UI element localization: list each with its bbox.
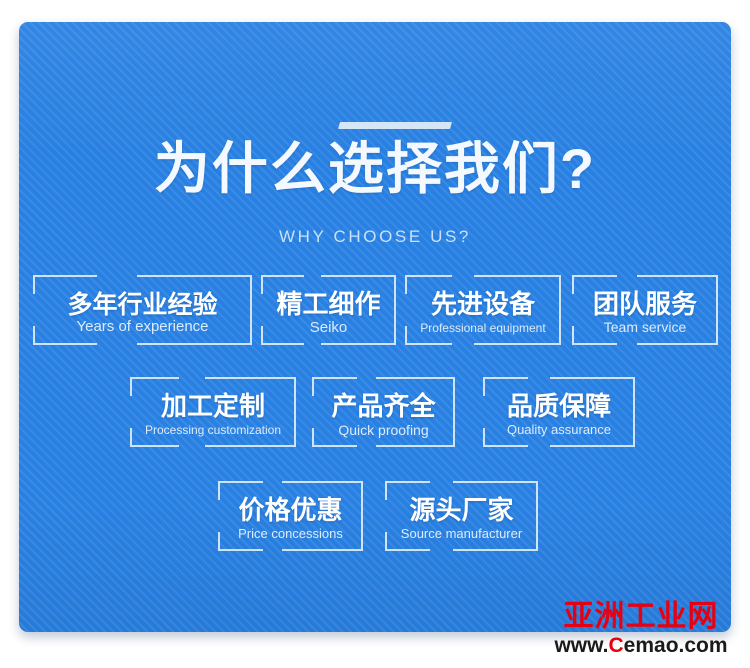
card-title-cn: 品质保障 (483, 386, 635, 423)
feature-card-quick-proofing[interactable]: 产品齐全 Quick proofing (312, 377, 455, 447)
card-title-cn: 先进设备 (405, 284, 561, 321)
feature-card-source-manufacturer[interactable]: 源头厂家 Source manufacturer (385, 481, 538, 551)
bracket-edge-bottom-right (453, 549, 521, 551)
bracket-edge-bottom-right (474, 343, 544, 345)
bracket-edge-bottom-left (402, 549, 430, 551)
bracket-edge-bottom-left (329, 445, 357, 447)
bracket-edge-top-left (278, 275, 304, 277)
bracket-edge-top-left (235, 481, 263, 483)
bracket-edge-bottom-left (589, 343, 617, 345)
page-subtitle: WHY CHOOSE US? (19, 227, 731, 247)
feature-card-quality-assurance[interactable]: 品质保障 Quality assurance (483, 377, 635, 447)
page-title: 为什么选择我们? (19, 140, 731, 199)
card-title-cn: 加工定制 (130, 386, 296, 423)
feature-card-team-service[interactable]: 团队服务 Team service (572, 275, 718, 345)
bracket-edge-bottom-right (376, 445, 438, 447)
watermark-url-highlight: C (609, 634, 624, 657)
card-title-en: Years of experience (33, 318, 252, 335)
card-title-en: Professional equipment (405, 321, 561, 335)
bracket-edge-bottom-left (278, 343, 304, 345)
card-title-en: Team service (572, 319, 718, 335)
title-accent-bar (338, 122, 452, 129)
bracket-edge-bottom-right (282, 549, 346, 551)
bracket-edge-top-left (402, 481, 430, 483)
bracket-edge-bottom-left (50, 343, 97, 345)
bracket-edge-bottom-right (321, 343, 379, 345)
bracket-edge-top-right (474, 275, 544, 277)
bracket-edge-bottom-left (147, 445, 179, 447)
bracket-edge-top-left (147, 377, 179, 379)
feature-card-processing-customization[interactable]: 加工定制 Processing customization (130, 377, 296, 447)
bracket-edge-top-left (500, 377, 528, 379)
bracket-edge-top-left (329, 377, 357, 379)
card-title-en: Processing customization (130, 423, 296, 437)
banner-stage: 为什么选择我们? WHY CHOOSE US? 多年行业经验 Years of … (0, 0, 750, 668)
bracket-edge-bottom-right (137, 343, 235, 345)
bracket-edge-top-right (376, 377, 438, 379)
bracket-edge-top-left (50, 275, 97, 277)
bracket-edge-bottom-right (205, 445, 279, 447)
feature-card-seiko[interactable]: 精工细作 Seiko (261, 275, 396, 345)
card-title-en: Source manufacturer (385, 526, 538, 541)
feature-card-professional-equipment[interactable]: 先进设备 Professional equipment (405, 275, 561, 345)
card-title-en: Price concessions (218, 526, 363, 541)
bracket-edge-bottom-right (637, 343, 701, 345)
card-title-cn: 价格优惠 (218, 490, 363, 527)
watermark-site-name-cn: 亚洲工业网 (538, 600, 744, 634)
bracket-edge-top-right (321, 275, 379, 277)
bracket-edge-top-right (637, 275, 701, 277)
card-title-cn: 源头厂家 (385, 490, 538, 527)
watermark-url-prefix: www. (554, 634, 608, 657)
card-title-cn: 多年行业经验 (33, 285, 252, 321)
card-title-cn: 产品齐全 (312, 386, 455, 423)
card-title-en: Seiko (261, 319, 396, 336)
bracket-edge-top-left (589, 275, 617, 277)
card-title-en: Quick proofing (312, 422, 455, 438)
bracket-edge-top-left (422, 275, 452, 277)
bracket-edge-top-right (282, 481, 346, 483)
bracket-edge-bottom-left (422, 343, 452, 345)
feature-card-years-of-experience[interactable]: 多年行业经验 Years of experience (33, 275, 252, 345)
card-title-cn: 团队服务 (572, 284, 718, 321)
card-title-en: Quality assurance (483, 422, 635, 437)
watermark-site-url: www.Cemao.com (538, 633, 744, 659)
card-title-cn: 精工细作 (261, 284, 396, 321)
bracket-edge-bottom-right (550, 445, 618, 447)
bracket-edge-bottom-left (235, 549, 263, 551)
bracket-edge-top-right (453, 481, 521, 483)
feature-card-price-concessions[interactable]: 价格优惠 Price concessions (218, 481, 363, 551)
bracket-edge-bottom-left (500, 445, 528, 447)
bracket-edge-top-right (550, 377, 618, 379)
site-watermark: 亚洲工业网 www.Cemao.com (538, 600, 744, 662)
bracket-edge-top-right (137, 275, 235, 277)
blue-banner-panel: 为什么选择我们? WHY CHOOSE US? 多年行业经验 Years of … (19, 22, 731, 632)
watermark-url-suffix: emao.com (624, 634, 728, 657)
bracket-edge-top-right (205, 377, 279, 379)
